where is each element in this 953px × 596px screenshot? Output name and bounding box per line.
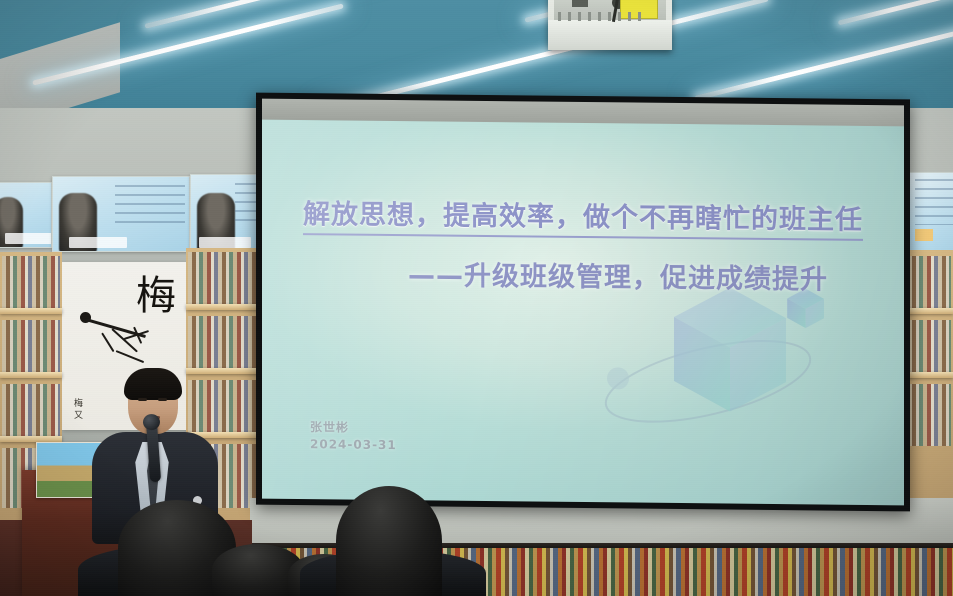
projector-body [548, 20, 672, 50]
portrait-panel-2 [52, 176, 190, 252]
presenter-eye [158, 398, 167, 401]
presenter-hair [124, 368, 182, 400]
ceiling-light-strip [694, 16, 953, 101]
plum-branch-icon [72, 288, 168, 366]
slide-author: 张世彬 [310, 419, 397, 437]
scroll-subtext: 梅又 [74, 398, 83, 422]
projection-screen[interactable]: 解放思想，提高效率，做个不再瞎忙的班主任 ——升级班级管理，促进成绩提升 张世彬… [262, 120, 904, 506]
projection-screen-frame: 解放思想，提高效率，做个不再瞎忙的班主任 ——升级班级管理，促进成绩提升 张世彬… [256, 93, 910, 512]
panel-text-lines [915, 179, 953, 225]
slide-title: 解放思想，提高效率，做个不再瞎忙的班主任 [262, 192, 904, 238]
slide-byline: 张世彬 2024-03-31 [310, 419, 397, 454]
portrait-panel-row [0, 176, 262, 248]
presenter-eye [138, 398, 147, 401]
projector-port [572, 0, 588, 7]
ceiling-soffit [0, 22, 120, 118]
panel-caption-tag [5, 233, 52, 244]
projector-vents [558, 12, 642, 21]
slide-date: 2024-03-31 [310, 436, 397, 454]
portrait-panel-right [908, 172, 953, 254]
audience-head-3 [336, 486, 442, 596]
panel-caption-tag [69, 237, 127, 248]
slide-title-text: 解放思想，提高效率，做个不再瞎忙的班主任 [303, 199, 863, 241]
ceiling-light-strip [838, 0, 953, 26]
panel-accent-block [915, 229, 933, 241]
lecture-scene: 梅 梅又 [0, 0, 953, 596]
panel-caption-tag [199, 237, 251, 248]
ceiling-projector [548, 0, 672, 50]
panel-text-lines [115, 185, 185, 229]
portrait-panel-1 [0, 182, 52, 248]
slide-subtitle: ——升级班级管理，促进成绩提升 [262, 252, 904, 298]
